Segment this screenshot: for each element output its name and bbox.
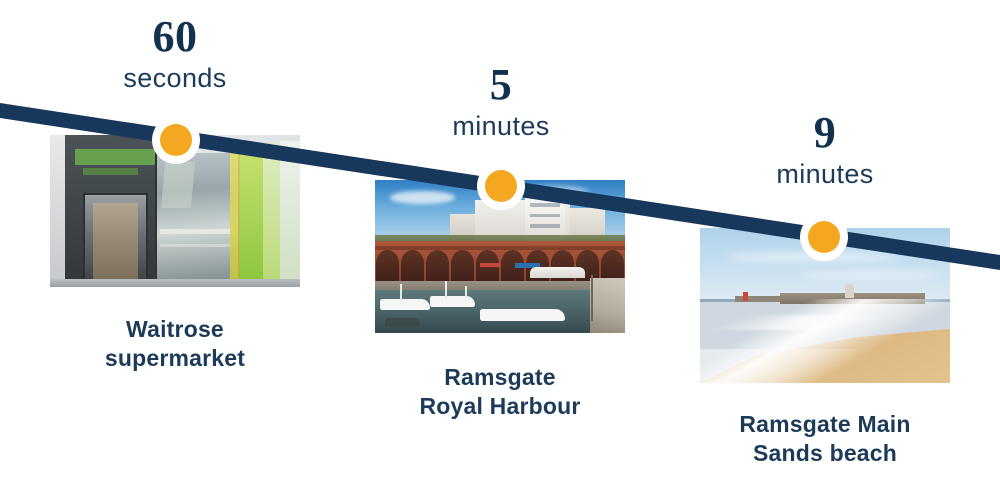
time-value: 5 xyxy=(371,62,631,108)
wet-sand xyxy=(700,349,950,383)
lighthouse-icon xyxy=(845,284,854,298)
marker-dot xyxy=(485,170,517,202)
time-value: 60 xyxy=(45,14,305,60)
marker-dot xyxy=(808,221,840,253)
building-windows-row-3 xyxy=(530,224,560,228)
walkway-railing xyxy=(591,275,593,321)
time-label-waitrose: 60 seconds xyxy=(45,14,305,94)
window-shelf-lower xyxy=(160,244,235,247)
time-label-royal-harbour: 5 minutes xyxy=(371,62,631,142)
waitrose-sublogo xyxy=(83,168,138,174)
marquee-awning xyxy=(530,267,585,278)
marker-main-sands[interactable] xyxy=(800,213,848,261)
arch xyxy=(451,250,474,281)
viaduct-band xyxy=(375,246,625,250)
arch xyxy=(376,250,399,281)
building-windows-row-2 xyxy=(530,214,560,218)
boat xyxy=(380,299,430,310)
boat xyxy=(480,309,565,321)
caption-line-1: Ramsgate xyxy=(350,363,650,392)
caption-line-2: Royal Harbour xyxy=(350,392,650,421)
boat xyxy=(385,318,420,327)
caption-royal-harbour: Ramsgate Royal Harbour xyxy=(350,363,650,421)
timeline-graphic: 60 seconds 5 minutes 9 minutes Waitrose … xyxy=(0,0,1000,500)
caption-line-1: Waitrose xyxy=(25,315,325,344)
caption-line-1: Ramsgate Main xyxy=(675,410,975,439)
pavement xyxy=(50,279,300,287)
arch xyxy=(426,250,449,281)
time-unit: minutes xyxy=(371,110,631,142)
green-panel-3 xyxy=(280,141,300,282)
caption-line-2: supermarket xyxy=(25,344,325,373)
green-panel-1 xyxy=(240,144,263,282)
building-windows-row-1 xyxy=(530,203,560,207)
marker-dot xyxy=(160,124,192,156)
boat xyxy=(430,296,475,307)
cloud-wisp-2 xyxy=(800,271,938,277)
time-value: 9 xyxy=(695,110,955,156)
viaduct-arches xyxy=(375,250,625,281)
boat-mast xyxy=(445,281,447,299)
caption-line-2: Sands beach xyxy=(675,439,975,468)
time-unit: seconds xyxy=(45,62,305,94)
harbour-sign-red xyxy=(480,263,500,268)
marker-royal-harbour[interactable] xyxy=(477,162,525,210)
green-panel-2 xyxy=(263,143,281,283)
waitrose-logo xyxy=(75,149,155,166)
boat-mast xyxy=(465,286,467,300)
window-reflection xyxy=(161,162,195,208)
time-unit: minutes xyxy=(695,158,955,190)
arch xyxy=(401,250,424,281)
marker-waitrose[interactable] xyxy=(152,116,200,164)
arch xyxy=(601,250,624,281)
boat-mast xyxy=(400,284,402,301)
time-label-main-sands: 9 minutes xyxy=(695,110,955,190)
store-interior xyxy=(93,203,138,279)
caption-waitrose: Waitrose supermarket xyxy=(25,315,325,373)
caption-main-sands: Ramsgate Main Sands beach xyxy=(675,410,975,468)
harbour-walkway xyxy=(590,278,625,333)
window-shelf xyxy=(160,229,235,234)
